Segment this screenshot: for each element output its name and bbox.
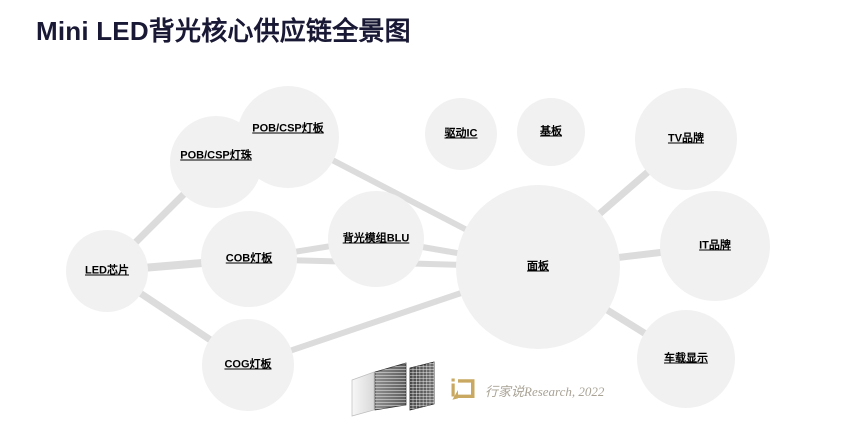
graph-node-label-pob-csp-board: POB/CSP灯板 [252,123,324,136]
graph-node-label-led-chip: LED芯片 [85,265,129,278]
graph-node-label-pob-csp-bead: POB/CSP灯珠 [180,150,252,163]
graph-node-label-panel: 面板 [527,261,549,274]
graph-node-pob-csp-board[interactable] [237,86,339,188]
graph-edge-panel-to-tv-brand [597,170,650,216]
graph-node-label-driver-ic: 驱动IC [445,128,478,141]
graph-edge-panel-to-it-brand [615,252,664,258]
graph-node-label-auto-display: 车载显示 [664,353,708,366]
graph-edge-led-chip-to-cog-board [138,292,213,342]
xingjiashuo-logo [450,378,478,402]
watermark-text: 行家说Research, 2022 [485,381,604,400]
graph-edge-led-chip-to-cob-board [144,263,205,268]
graph-node-label-it-brand: IT品牌 [699,240,731,253]
slide-canvas: Mini LED背光核心供应链全景图 LED芯片POB/CSP灯珠POB/CSP… [0,0,843,433]
watermark: 行家说Research, 2022 [450,378,604,402]
graph-node-label-cog-board: COG灯板 [224,359,271,372]
graph-edge-blu-module-to-panel [419,246,461,253]
graph-node-label-tv-brand: TV品牌 [668,133,704,146]
graph-node-label-blu-module: 背光模组BLU [343,233,410,246]
graph-edge-panel-to-auto-display [604,308,648,335]
graph-node-label-cob-board: COB灯板 [226,253,272,266]
graph-edge-led-chip-to-pob-csp-bead [133,192,186,245]
graph-node-label-substrate: 基板 [540,126,562,139]
graph-edge-cob-board-to-blu-module [292,246,332,252]
graph-edge-cog-board-to-panel [288,292,464,352]
backlight-panel-illustration [348,360,440,422]
